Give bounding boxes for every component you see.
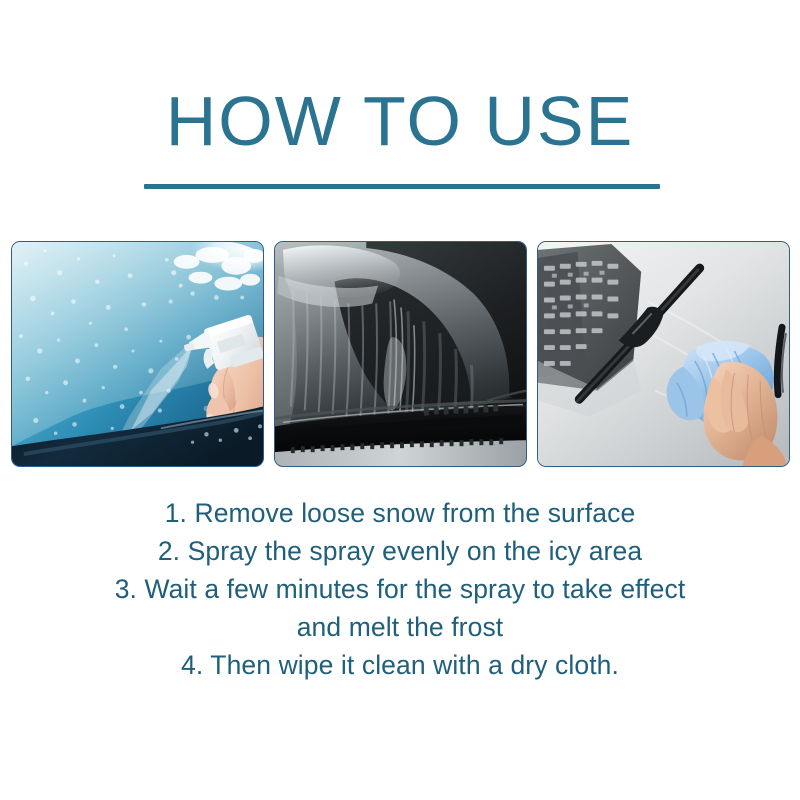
step-image-3 — [537, 241, 790, 467]
instruction-step-2: 2. Spray the spray evenly on the icy are… — [0, 532, 800, 570]
step-image-1-canvas — [12, 242, 263, 466]
step-image-3-canvas — [538, 242, 789, 466]
wipe-clean-windshield-illustration — [538, 242, 789, 466]
instructions-list: 1. Remove loose snow from the surface 2.… — [0, 494, 800, 684]
page-title: HOW TO USE — [0, 84, 800, 158]
title-divider-rule — [144, 184, 660, 189]
instruction-image-row — [11, 241, 790, 467]
instruction-step-3-continued: and melt the frost — [0, 608, 800, 646]
instruction-step-1: 1. Remove loose snow from the surface — [0, 494, 800, 532]
step-image-1 — [11, 241, 264, 467]
melting-frost-windshield-illustration — [275, 242, 526, 466]
frosty-windshield-spray-illustration — [12, 242, 263, 466]
instruction-step-4: 4. Then wipe it clean with a dry cloth. — [0, 646, 800, 684]
step-image-2 — [274, 241, 527, 467]
instruction-step-3: 3. Wait a few minutes for the spray to t… — [0, 570, 800, 608]
step-image-2-canvas — [275, 242, 526, 466]
